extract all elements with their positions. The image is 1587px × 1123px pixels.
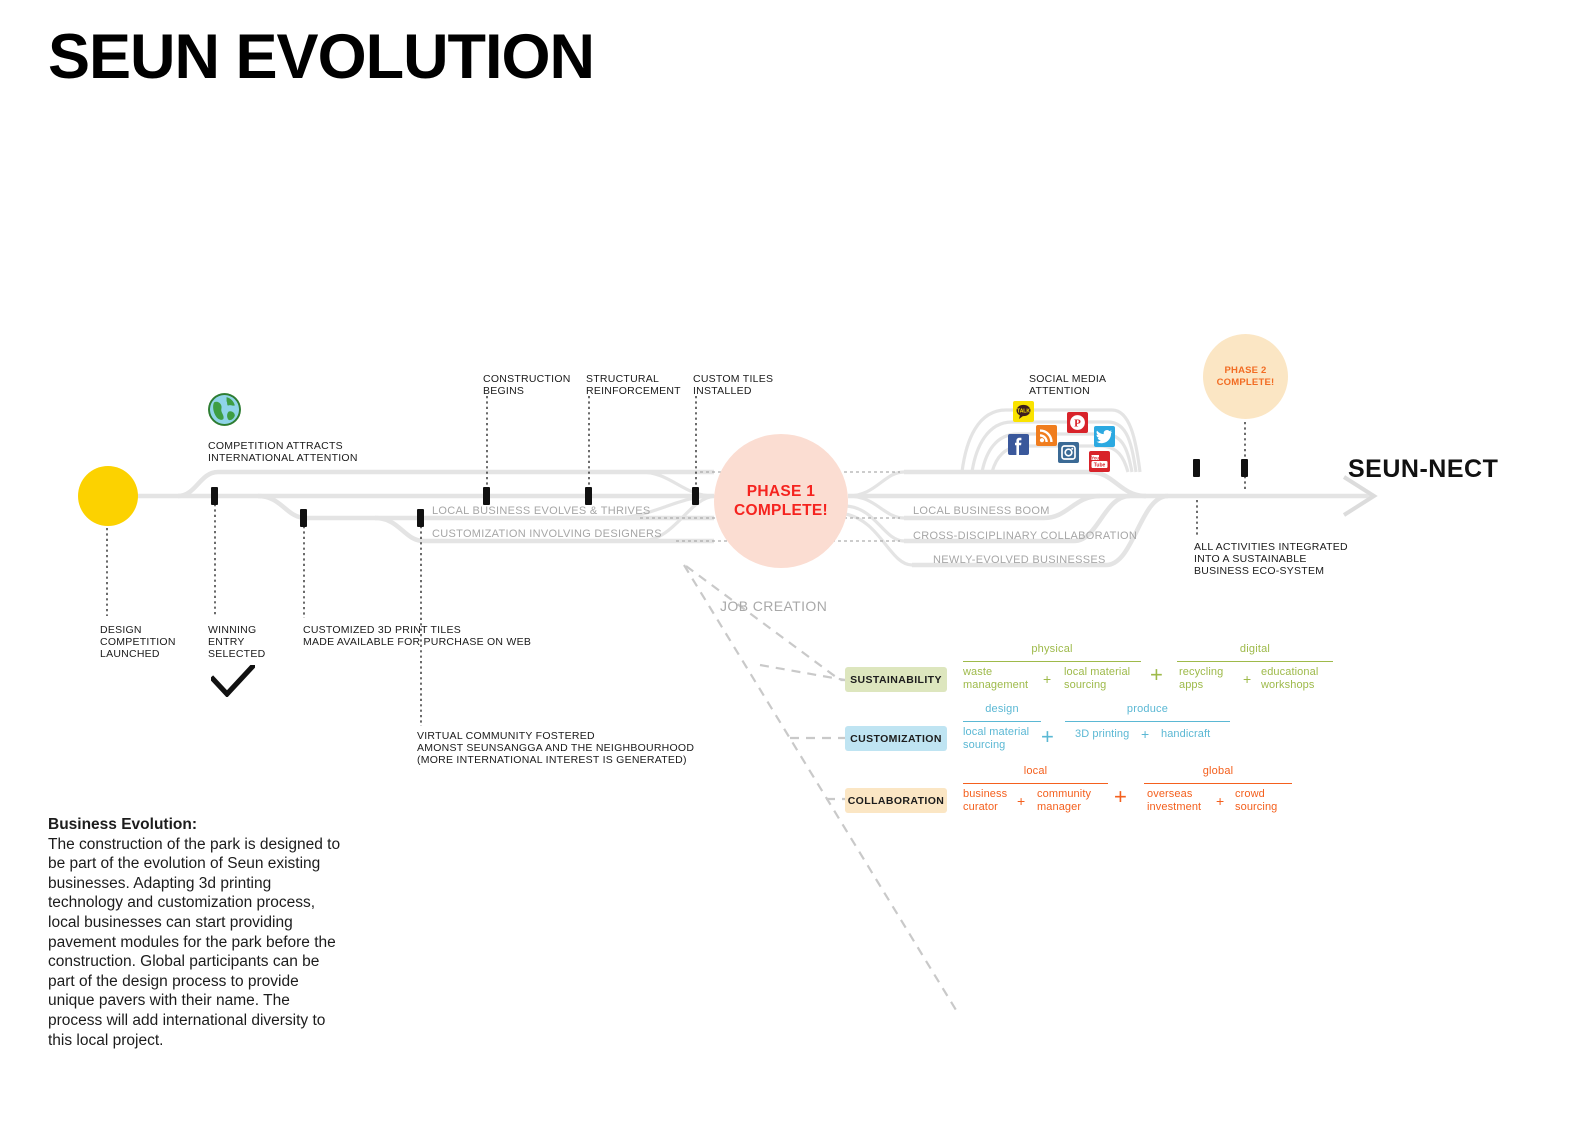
item-business-curator: business curator — [963, 788, 1007, 813]
pipe-international-attention — [178, 472, 714, 496]
category-chip-sustainability-label: SUSTAINABILITY — [850, 674, 942, 686]
business-evolution-body: The construction of the park is designed… — [48, 836, 340, 1049]
milestone-label-structural-reinforcement: STRUCTURAL REINFORCEMENT — [586, 373, 681, 397]
svg-text:Tube: Tube — [1094, 463, 1106, 469]
plus-icon: + — [1114, 786, 1127, 808]
group-title-local: local — [963, 765, 1108, 777]
kakaotalk-icon: TALK — [1013, 401, 1034, 422]
svg-text:You: You — [1091, 455, 1099, 460]
business-evolution-heading: Business Evolution: — [48, 816, 197, 833]
pipe-converge-a — [640, 472, 714, 496]
group-title-digital: digital — [1177, 643, 1333, 655]
job-creation-heading: JOB CREATION — [720, 598, 827, 614]
plus-icon: + — [1017, 794, 1025, 808]
stream-label-local-business-boom: LOCAL BUSINESS BOOM — [913, 505, 1050, 518]
phase2-line2: COMPLETE! — [1217, 377, 1275, 389]
seun-evolution-diagram: SEUN EVOLUTION .pipe { fill:none; stroke… — [0, 0, 1587, 1123]
item-3d-printing: 3D printing — [1075, 728, 1129, 741]
group-rule-digital — [1177, 661, 1333, 662]
category-chip-sustainability[interactable]: SUSTAINABILITY — [845, 667, 947, 692]
item-local-material-sourcing-design: local material sourcing — [963, 726, 1029, 751]
group-title-design: design — [963, 703, 1041, 715]
milestone-label-winning-entry-selected: WINNING ENTRY SELECTED — [208, 624, 265, 661]
phase2-line1: PHASE 2 — [1217, 365, 1275, 377]
callout-competition-attracts: COMPETITION ATTRACTS INTERNATIONAL ATTEN… — [208, 440, 358, 464]
milestone-label-design-competition-launched: DESIGN COMPETITION LAUNCHED — [100, 624, 176, 661]
item-educational-workshops: educational workshops — [1261, 666, 1318, 691]
pinterest-icon: P — [1067, 412, 1088, 433]
plus-icon: + — [1043, 672, 1051, 686]
group-title-produce: produce — [1065, 703, 1230, 715]
item-community-manager: community manager — [1037, 788, 1091, 813]
business-evolution-block: Business Evolution: The construction of … — [48, 815, 348, 1050]
group-rule-produce — [1065, 721, 1230, 722]
item-waste-management: waste management — [963, 666, 1028, 691]
category-chip-collaboration[interactable]: COLLABORATION — [845, 788, 947, 813]
stream-label-newly-evolved-businesses: NEWLY-EVOLVED BUSINESSES — [933, 554, 1106, 567]
svg-text:P: P — [1074, 418, 1081, 430]
plus-icon: + — [1243, 672, 1251, 686]
rss-icon — [1036, 425, 1057, 446]
facebook-icon — [1008, 434, 1029, 455]
milestone-label-custom-tiles-installed: CUSTOM TILES INSTALLED — [693, 373, 773, 397]
group-title-global: global — [1144, 765, 1292, 777]
svg-text:TALK: TALK — [1017, 409, 1030, 415]
plus-icon: + — [1216, 794, 1224, 808]
phase1-line2: COMPLETE! — [734, 501, 828, 520]
plus-icon: + — [1041, 726, 1054, 748]
category-chip-collaboration-label: COLLABORATION — [848, 795, 945, 807]
design-competition-start-dot — [78, 466, 138, 526]
callout-social-media: SOCIAL MEDIA ATTENTION — [1029, 373, 1106, 397]
globe-icon — [208, 393, 241, 426]
pipe-diverge-c — [846, 506, 904, 541]
item-crowd-sourcing: crowd sourcing — [1235, 788, 1277, 813]
item-handicraft: handicraft — [1161, 728, 1210, 741]
twitter-icon — [1094, 426, 1115, 447]
seun-nect-label: SEUN-NECT — [1348, 455, 1498, 484]
milestone-label-all-activities-integrated: ALL ACTIVITIES INTEGRATED INTO A SUSTAIN… — [1194, 541, 1348, 578]
phase1-line1: PHASE 1 — [734, 482, 828, 501]
check-icon — [211, 665, 255, 697]
instagram-icon — [1058, 442, 1079, 463]
stream-label-cross-disciplinary-collaboration: CROSS-DISCIPLINARY COLLABORATION — [913, 530, 1137, 543]
group-rule-local — [963, 783, 1108, 784]
milestone-label-construction-begins: CONSTRUCTION BEGINS — [483, 373, 571, 397]
job-creation-dash-s2 — [760, 665, 845, 680]
category-chip-customization-label: CUSTOMIZATION — [850, 733, 942, 745]
plus-icon: + — [1150, 664, 1163, 686]
stream-label-local-business-evolves: LOCAL BUSINESS EVOLVES & THRIVES — [432, 505, 650, 518]
phase-2-complete-badge: PHASE 2 COMPLETE! — [1203, 334, 1288, 419]
item-overseas-investment: overseas investment — [1147, 788, 1201, 813]
stream-label-customization-involving-designers: CUSTOMIZATION INVOLVING DESIGNERS — [432, 528, 662, 541]
group-title-physical: physical — [963, 643, 1141, 655]
category-chip-customization[interactable]: CUSTOMIZATION — [845, 726, 947, 751]
group-rule-physical — [963, 661, 1141, 662]
milestone-label-customized-3d-print-tiles: CUSTOMIZED 3D PRINT TILES MADE AVAILABLE… — [303, 624, 531, 648]
pipe-diverge-a — [848, 472, 904, 496]
milestone-label-virtual-community-fostered: VIRTUAL COMMUNITY FOSTERED AMONST SEUNSA… — [417, 730, 694, 767]
group-rule-global — [1144, 783, 1292, 784]
plus-icon: + — [1141, 727, 1149, 741]
job-creation-dash-sustainability — [686, 566, 845, 680]
item-recycling-apps: recycling apps — [1179, 666, 1223, 691]
group-rule-design — [963, 721, 1041, 722]
pipe-right-stream-top — [904, 472, 1146, 496]
item-local-material-sourcing: local material sourcing — [1064, 666, 1130, 691]
phase-1-complete-badge: PHASE 1 COMPLETE! — [714, 434, 848, 568]
youtube-icon: You Tube — [1089, 451, 1110, 472]
